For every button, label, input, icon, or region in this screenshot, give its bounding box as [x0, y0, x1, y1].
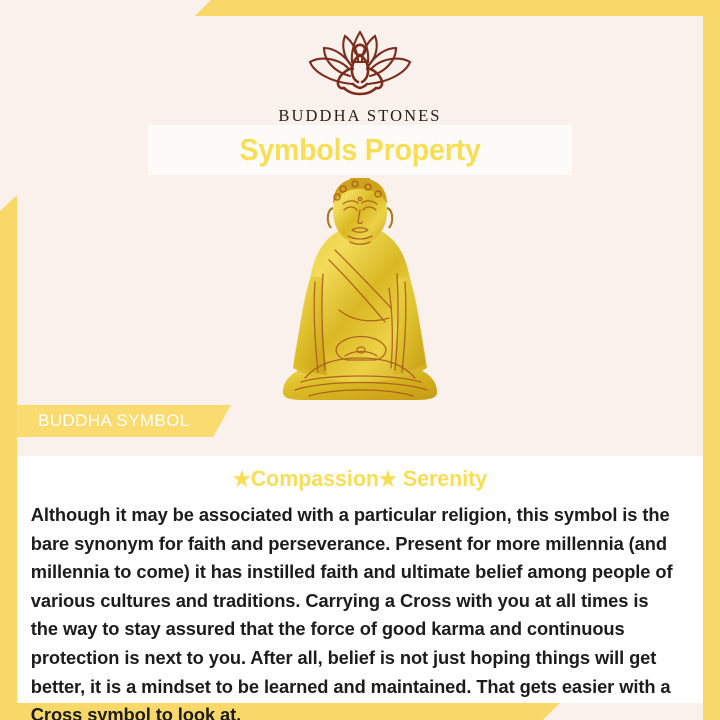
content-paragraph: Although it may be associated with a par… — [17, 492, 693, 720]
star-icon-left: ★ — [233, 468, 251, 491]
buddha-svg — [265, 178, 455, 410]
content-card: ★Compassion★ Serenity Although it may be… — [17, 456, 703, 703]
page-title: Symbols Property — [239, 132, 480, 168]
seated-buddha-statue-illustration — [265, 178, 455, 410]
buddha-symbol-ribbon: BUDDHA SYMBOL — [17, 405, 231, 437]
decor-left-bar — [0, 195, 17, 720]
decor-top-bar — [195, 0, 720, 16]
ribbon-label: BUDDHA SYMBOL — [17, 411, 190, 431]
headline-word-serenity: Serenity — [403, 466, 487, 491]
star-icon-right: ★ — [379, 468, 397, 491]
brand-name: BUDDHA STONES — [0, 106, 720, 126]
lotus-meditation-icon — [300, 24, 420, 100]
poster-canvas: BUDDHA STONES Symbols Property — [0, 0, 720, 720]
content-headline: ★Compassion★ Serenity — [34, 456, 686, 492]
headline-word-compassion: Compassion — [251, 466, 379, 491]
title-band: Symbols Property — [148, 125, 572, 175]
brand-header: BUDDHA STONES — [0, 24, 720, 126]
